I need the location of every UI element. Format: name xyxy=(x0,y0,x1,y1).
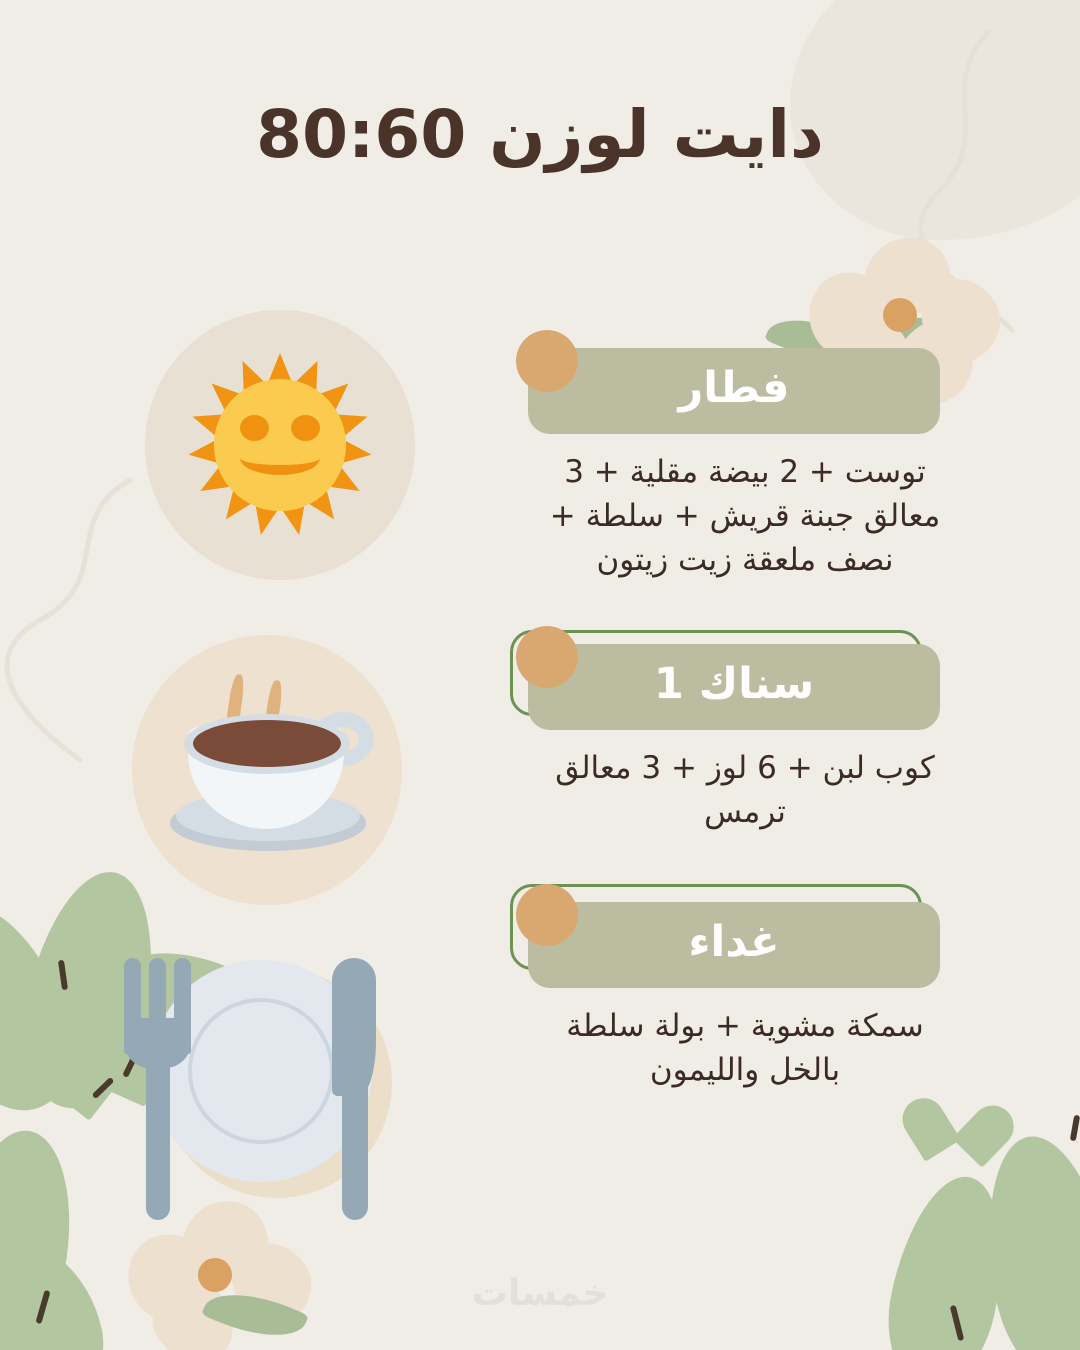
meal-label-pill[interactable]: غداء xyxy=(528,902,940,988)
meal-description: سمكة مشوية + بولة سلطة بالخل والليمون xyxy=(534,1004,956,1092)
meal-label: سناك 1 xyxy=(654,663,814,712)
meal-header-lunch[interactable]: غداء xyxy=(510,884,980,984)
coffee-cup-icon xyxy=(132,635,402,905)
sun-icon xyxy=(145,310,415,580)
accent-dot xyxy=(516,884,578,946)
squiggle-line-left xyxy=(0,470,150,770)
meal-list: فطار توست + 2 بيضة مقلية + 3 معالق جبنة … xyxy=(510,330,980,1100)
sun-smile xyxy=(240,441,320,475)
plate-cutlery-icon xyxy=(112,955,382,1225)
meal-snack-1: سناك 1 كوب لبن + 6 لوز + 3 معالق ترمس xyxy=(510,626,980,834)
accent-dot xyxy=(516,330,578,392)
meal-breakfast: فطار توست + 2 بيضة مقلية + 3 معالق جبنة … xyxy=(510,330,980,582)
page-title: دايت لوزن 80:60 xyxy=(0,96,1080,173)
meal-lunch: غداء سمكة مشوية + بولة سلطة بالخل والليم… xyxy=(510,884,980,1092)
meal-label: فطار xyxy=(679,367,790,416)
fork-icon xyxy=(124,958,192,1220)
meal-label: غداء xyxy=(689,921,780,970)
sun-eye xyxy=(240,415,269,441)
meal-header-breakfast[interactable]: فطار xyxy=(510,330,980,430)
meal-header-snack-1[interactable]: سناك 1 xyxy=(510,626,980,726)
coffee-liquid xyxy=(193,720,341,767)
meal-description: توست + 2 بيضة مقلية + 3 معالق جبنة قريش … xyxy=(534,450,956,582)
meal-label-pill[interactable]: سناك 1 xyxy=(528,644,940,730)
watermark: خمسات xyxy=(0,1273,1080,1314)
meal-description: كوب لبن + 6 لوز + 3 معالق ترمس xyxy=(534,746,956,834)
sun-eye xyxy=(291,415,320,441)
leaf-vein-dash xyxy=(1070,1115,1080,1142)
accent-dot xyxy=(516,626,578,688)
flower-center xyxy=(883,298,917,332)
knife-icon xyxy=(332,958,376,1220)
poster-canvas: دايت لوزن 80:60 xyxy=(0,0,1080,1350)
meal-label-pill[interactable]: فطار xyxy=(528,348,940,434)
plate-inner-ring xyxy=(188,998,334,1144)
